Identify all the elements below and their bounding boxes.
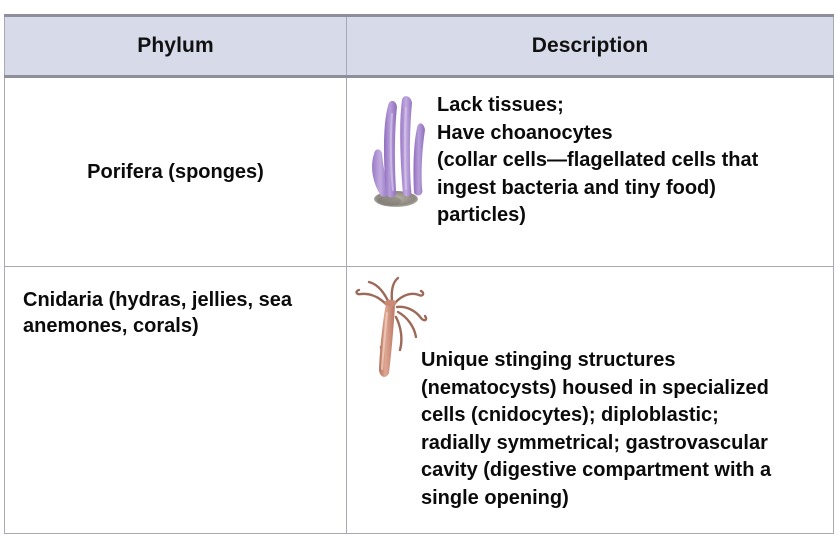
description-content-cnidaria: Unique stinging structures (nematocysts)… [347, 267, 833, 533]
desc-line: Unique stinging structures [421, 347, 823, 375]
desc-line: cavity (digestive compartment with a [421, 457, 823, 485]
desc-line: single opening) [421, 485, 823, 513]
table-body: Porifera (sponges) [5, 77, 834, 534]
phylum-line: anemones, corals) [23, 315, 199, 337]
desc-line: (nematocysts) housed in specialized [421, 375, 823, 403]
description-content-porifera: Lack tissues; Have choanocytes (collar c… [347, 78, 833, 266]
description-text-porifera: Lack tissues; Have choanocytes (collar c… [437, 92, 758, 230]
cell-phylum-porifera: Porifera (sponges) [5, 77, 347, 267]
header-row: Phylum Description [5, 16, 834, 77]
desc-line: radially symmetrical; gastrovascular [421, 430, 823, 458]
sponge-illustration [361, 94, 431, 212]
column-header-description: Description [347, 16, 834, 77]
table-row-cnidaria: Cnidaria (hydras, jellies, sea anemones,… [5, 267, 834, 534]
phyla-description-table: Phylum Description Porifera (sponges) [4, 14, 834, 534]
desc-line: cells (cnidocytes); diploblastic; [421, 402, 823, 430]
table-row-porifera: Porifera (sponges) [5, 77, 834, 267]
cell-phylum-cnidaria: Cnidaria (hydras, jellies, sea anemones,… [5, 267, 347, 534]
desc-line: Lack tissues; [437, 92, 758, 120]
desc-line: particles) [437, 202, 758, 230]
column-header-phylum: Phylum [5, 16, 347, 77]
phylum-line: Cnidaria (hydras, jellies, sea [23, 289, 292, 311]
hydra-illustration [353, 275, 431, 387]
desc-line: Have choanocytes [437, 120, 758, 148]
cell-description-porifera: Lack tissues; Have choanocytes (collar c… [347, 77, 834, 267]
table-header: Phylum Description [5, 16, 834, 77]
desc-line: (collar cells—flagellated cells that [437, 147, 758, 175]
desc-line: ingest bacteria and tiny food) [437, 175, 758, 203]
table-page: Phylum Description Porifera (sponges) [0, 0, 838, 538]
cell-description-cnidaria: Unique stinging structures (nematocysts)… [347, 267, 834, 534]
